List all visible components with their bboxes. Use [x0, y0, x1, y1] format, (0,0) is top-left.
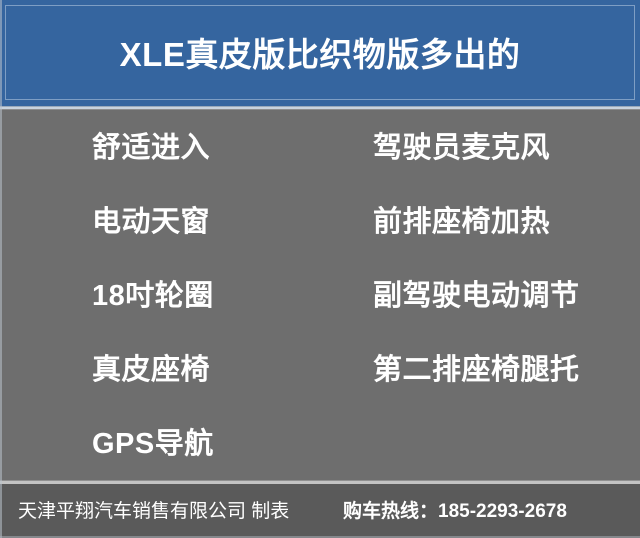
feature-item-left: GPS导航 — [92, 430, 214, 459]
feature-item-right: 驾驶员麦克风 — [373, 134, 550, 163]
table-row: 真皮座椅 第二排座椅腿托 — [0, 333, 640, 407]
company-credit: 天津平翔汽车销售有限公司 制表 — [18, 502, 289, 521]
poster-footer: 天津平翔汽车销售有限公司 制表 购车热线：185-2293-2678 — [0, 484, 640, 538]
feature-rows: 舒适进入 驾驶员麦克风 电动天窗 前排座椅加热 18吋轮圈 副驾驶电动调节 真皮… — [0, 111, 640, 481]
table-row: 舒适进入 驾驶员麦克风 — [0, 111, 640, 185]
feature-item-left: 18吋轮圈 — [92, 282, 214, 311]
header-divider — [0, 106, 640, 110]
feature-item-right: 第二排座椅腿托 — [373, 356, 580, 385]
table-row: GPS导航 — [0, 407, 640, 481]
feature-item-right: 副驾驶电动调节 — [373, 282, 580, 311]
table-row: 18吋轮圈 副驾驶电动调节 — [0, 259, 640, 333]
feature-list-body: 舒适进入 驾驶员麦克风 电动天窗 前排座椅加热 18吋轮圈 副驾驶电动调节 真皮… — [0, 111, 640, 480]
feature-item-left: 舒适进入 — [92, 134, 210, 163]
left-edge-line — [0, 0, 2, 538]
feature-item-left: 电动天窗 — [92, 208, 210, 237]
feature-item-left: 真皮座椅 — [92, 356, 210, 385]
page-title: XLE真皮版比织物版多出的 — [120, 38, 521, 71]
feature-item-right: 前排座椅加热 — [373, 208, 550, 237]
feature-comparison-poster: XLE真皮版比织物版多出的 舒适进入 驾驶员麦克风 电动天窗 前排座椅加热 18… — [0, 0, 640, 538]
table-row: 电动天窗 前排座椅加热 — [0, 185, 640, 259]
hotline-text: 购车热线：185-2293-2678 — [343, 502, 567, 521]
poster-header: XLE真皮版比织物版多出的 — [0, 0, 640, 106]
